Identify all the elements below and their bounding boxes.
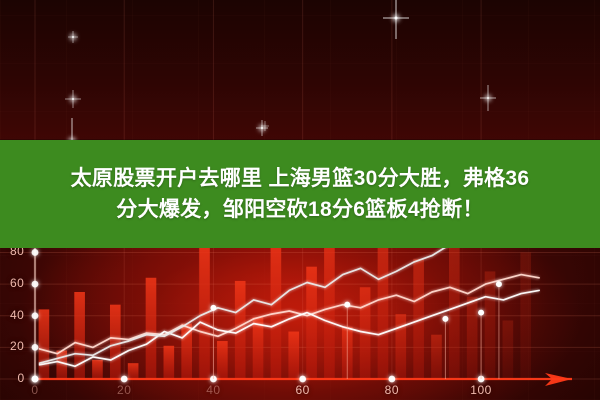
y-tick-label: 0 — [18, 371, 25, 385]
y-tick-label: 20 — [10, 339, 24, 353]
x-tick-label: 80 — [385, 383, 399, 397]
chart-bars — [39, 227, 531, 379]
x-tick-label: 0 — [31, 383, 38, 397]
screenshot-canvas: 020406080100 020406080100 太原股票开户去哪里 上海男篮… — [0, 0, 600, 400]
headline-line-1: 太原股票开户去哪里 上海男篮30分大胜，弗格36 — [71, 163, 530, 194]
headline-line-2: 分大爆发，邹阳空砍18分6篮板4抢断！ — [116, 194, 483, 225]
y-tick-label: 60 — [10, 276, 24, 290]
headline-band: 太原股票开户去哪里 上海男篮30分大胜，弗格36 分大爆发，邹阳空砍18分6篮板… — [0, 140, 600, 248]
y-tick-label: 40 — [10, 308, 24, 322]
x-tick-label: 100 — [470, 383, 492, 397]
x-tick-label: 20 — [117, 383, 131, 397]
x-tick-label: 60 — [295, 383, 309, 397]
x-tick-label: 40 — [206, 383, 220, 397]
